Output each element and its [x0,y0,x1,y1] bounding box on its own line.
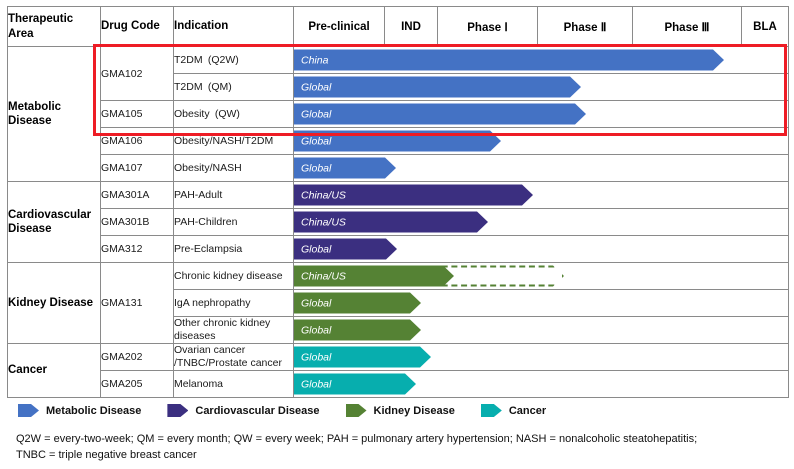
indication-cell: PAH-Adult [174,182,294,209]
progress-bar: Global [294,320,421,341]
progress-lane: Global [294,74,789,101]
drug-code-gma105: GMA105 [101,101,174,128]
progress-lane: China [294,47,789,74]
drug-code-gma301a: GMA301A [101,182,174,209]
indication-cell: Obesity (QW) [174,101,294,128]
therapeutic-area-cardiovascular-disease: Cardiovascular Disease [8,182,101,263]
table-row: GMA205MelanomaGlobal [8,371,789,398]
pipeline-table-header: Therapeutic AreaDrug CodeIndicationPre-c… [8,7,789,47]
legend-label: Cancer [509,405,546,417]
progress-bar: China/US [294,185,533,206]
indication-cell: Other chronic kidney diseases [174,317,294,344]
therapeutic-area-metabolic-disease: Metabolic Disease [8,47,101,182]
legend-label: Cardiovascular Disease [195,405,319,417]
legend-label: Kidney Disease [374,405,455,417]
legend-item: Metabolic Disease [18,404,141,417]
legend-swatch-icon [18,404,39,417]
table-row: Kidney DiseaseGMA131Chronic kidney disea… [8,263,789,290]
legend-swatch-icon [481,404,502,417]
indication-cell: IgA nephropathy [174,290,294,317]
drug-code-gma131: GMA131 [101,263,174,344]
column-header-phase: Phase Ⅱ [538,7,633,47]
indication-cell: Obesity/NASH/T2DM [174,128,294,155]
drug-code-gma312: GMA312 [101,236,174,263]
legend: Metabolic DiseaseCardiovascular DiseaseK… [18,404,546,417]
progress-lane: Global [294,344,789,371]
progress-bar: Global [294,239,397,260]
table-row: GMA107Obesity/NASHGlobal [8,155,789,182]
progress-bar: Global [294,131,501,152]
column-header-ind: IND [385,7,438,47]
indication-cell: Pre-Eclampsia [174,236,294,263]
legend-label: Metabolic Disease [46,405,141,417]
table-row: GMA301BPAH-ChildrenChina/US [8,209,789,236]
progress-lane: Global [294,101,789,128]
progress-bar: Global [294,293,421,314]
column-header-pre-clinical: Pre-clinical [294,7,385,47]
indication-cell: T2DM (QM) [174,74,294,101]
progress-bar: China [294,50,724,71]
column-header-drug-code: Drug Code [101,7,174,47]
indication-cell: Chronic kidney disease [174,263,294,290]
progress-lane: China/US [294,182,789,209]
therapeutic-area-cancer: Cancer [8,344,101,398]
indication-cell: Ovarian cancer /TNBC/Prostate cancer [174,344,294,371]
drug-code-gma202: GMA202 [101,344,174,371]
legend-item: Cardiovascular Disease [167,404,319,417]
progress-bar: China/US [294,266,454,287]
progress-lane: Global [294,236,789,263]
table-row: GMA106Obesity/NASH/T2DMGlobal [8,128,789,155]
progress-bar: China/US [294,212,488,233]
table-row: CancerGMA202Ovarian cancer /TNBC/Prostat… [8,344,789,371]
table-row: GMA312Pre-EclampsiaGlobal [8,236,789,263]
indication-cell: PAH-Children [174,209,294,236]
pipeline-table-body: Metabolic DiseaseGMA102T2DM (Q2W)ChinaT2… [8,47,789,398]
footnote-line-1: Q2W = every-two-week; QM = every month; … [16,432,786,448]
drug-code-gma106: GMA106 [101,128,174,155]
column-header-phase: Phase Ⅰ [438,7,538,47]
legend-swatch-icon [167,404,188,417]
column-header-indication: Indication [174,7,294,47]
table-row: GMA105Obesity (QW)Global [8,101,789,128]
column-header-therapeutic-area: Therapeutic Area [8,7,101,47]
progress-bar: Global [294,158,396,179]
progress-lane: Global [294,290,789,317]
progress-lane: China/US [294,209,789,236]
table-row: Metabolic DiseaseGMA102T2DM (Q2W)China [8,47,789,74]
footnote-line-2: TNBC = triple negative breast cancer [16,448,786,464]
drug-code-gma301b: GMA301B [101,209,174,236]
pipeline-chart-page: Therapeutic AreaDrug CodeIndicationPre-c… [0,0,794,469]
legend-item: Cancer [481,404,546,417]
column-header-phase: Phase Ⅲ [633,7,742,47]
column-header-bla: BLA [742,7,789,47]
header-row: Therapeutic AreaDrug CodeIndicationPre-c… [8,7,789,47]
indication-cell: T2DM (Q2W) [174,47,294,74]
progress-bar: Global [294,77,581,98]
drug-code-gma107: GMA107 [101,155,174,182]
pipeline-table: Therapeutic AreaDrug CodeIndicationPre-c… [7,6,789,398]
progress-lane: China/US [294,263,789,290]
indication-cell: Obesity/NASH [174,155,294,182]
progress-bar: Global [294,374,416,395]
table-row: Cardiovascular DiseaseGMA301APAH-AdultCh… [8,182,789,209]
legend-item: Kidney Disease [346,404,455,417]
progress-bar: Global [294,104,586,125]
legend-swatch-icon [346,404,367,417]
progress-lane: Global [294,155,789,182]
progress-bar: Global [294,347,431,368]
footnote: Q2W = every-two-week; QM = every month; … [16,432,786,464]
progress-lane: Global [294,128,789,155]
progress-lane: Global [294,317,789,344]
drug-code-gma102: GMA102 [101,47,174,101]
therapeutic-area-kidney-disease: Kidney Disease [8,263,101,344]
drug-code-gma205: GMA205 [101,371,174,398]
progress-lane: Global [294,371,789,398]
indication-cell: Melanoma [174,371,294,398]
